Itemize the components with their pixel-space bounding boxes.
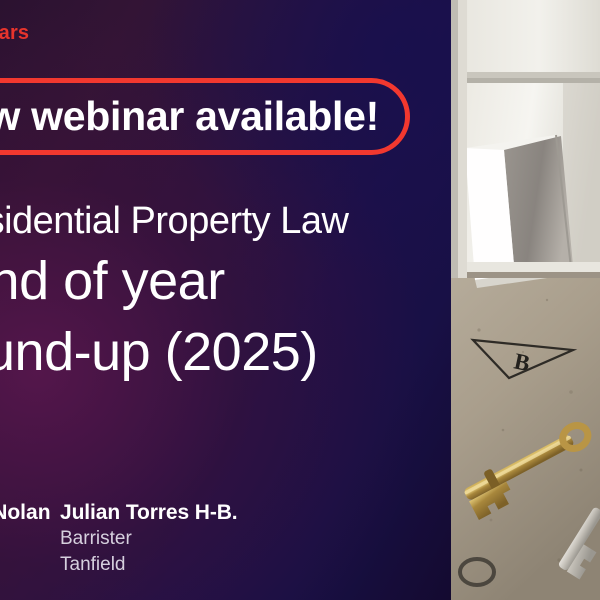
- promo-content: Webinars New webinar available! Resident…: [0, 0, 600, 600]
- speaker-organisation: Tanfield: [60, 552, 238, 578]
- speaker-details: Julian Torres H-B. Barrister Tanfield: [60, 500, 238, 578]
- secondary-speaker-name-cutoff: Sam Nolan: [0, 500, 51, 526]
- headline-line-1: Residential Property Law: [0, 196, 451, 246]
- page-title: Residential Property Law end of year rou…: [0, 196, 451, 388]
- new-webinar-badge[interactable]: New webinar available!: [0, 78, 410, 155]
- headline-line-3: round-up (2025): [0, 316, 451, 388]
- brand-eyebrow-label: Webinars: [0, 22, 29, 45]
- headline-line-2: end of year: [0, 246, 451, 316]
- webinar-promo-banner: Webinars New webinar available! Resident…: [0, 0, 600, 600]
- speaker-name: Julian Torres H-B.: [60, 500, 238, 526]
- speaker-role: Barrister: [60, 526, 238, 552]
- new-webinar-badge-label: New webinar available!: [0, 96, 379, 137]
